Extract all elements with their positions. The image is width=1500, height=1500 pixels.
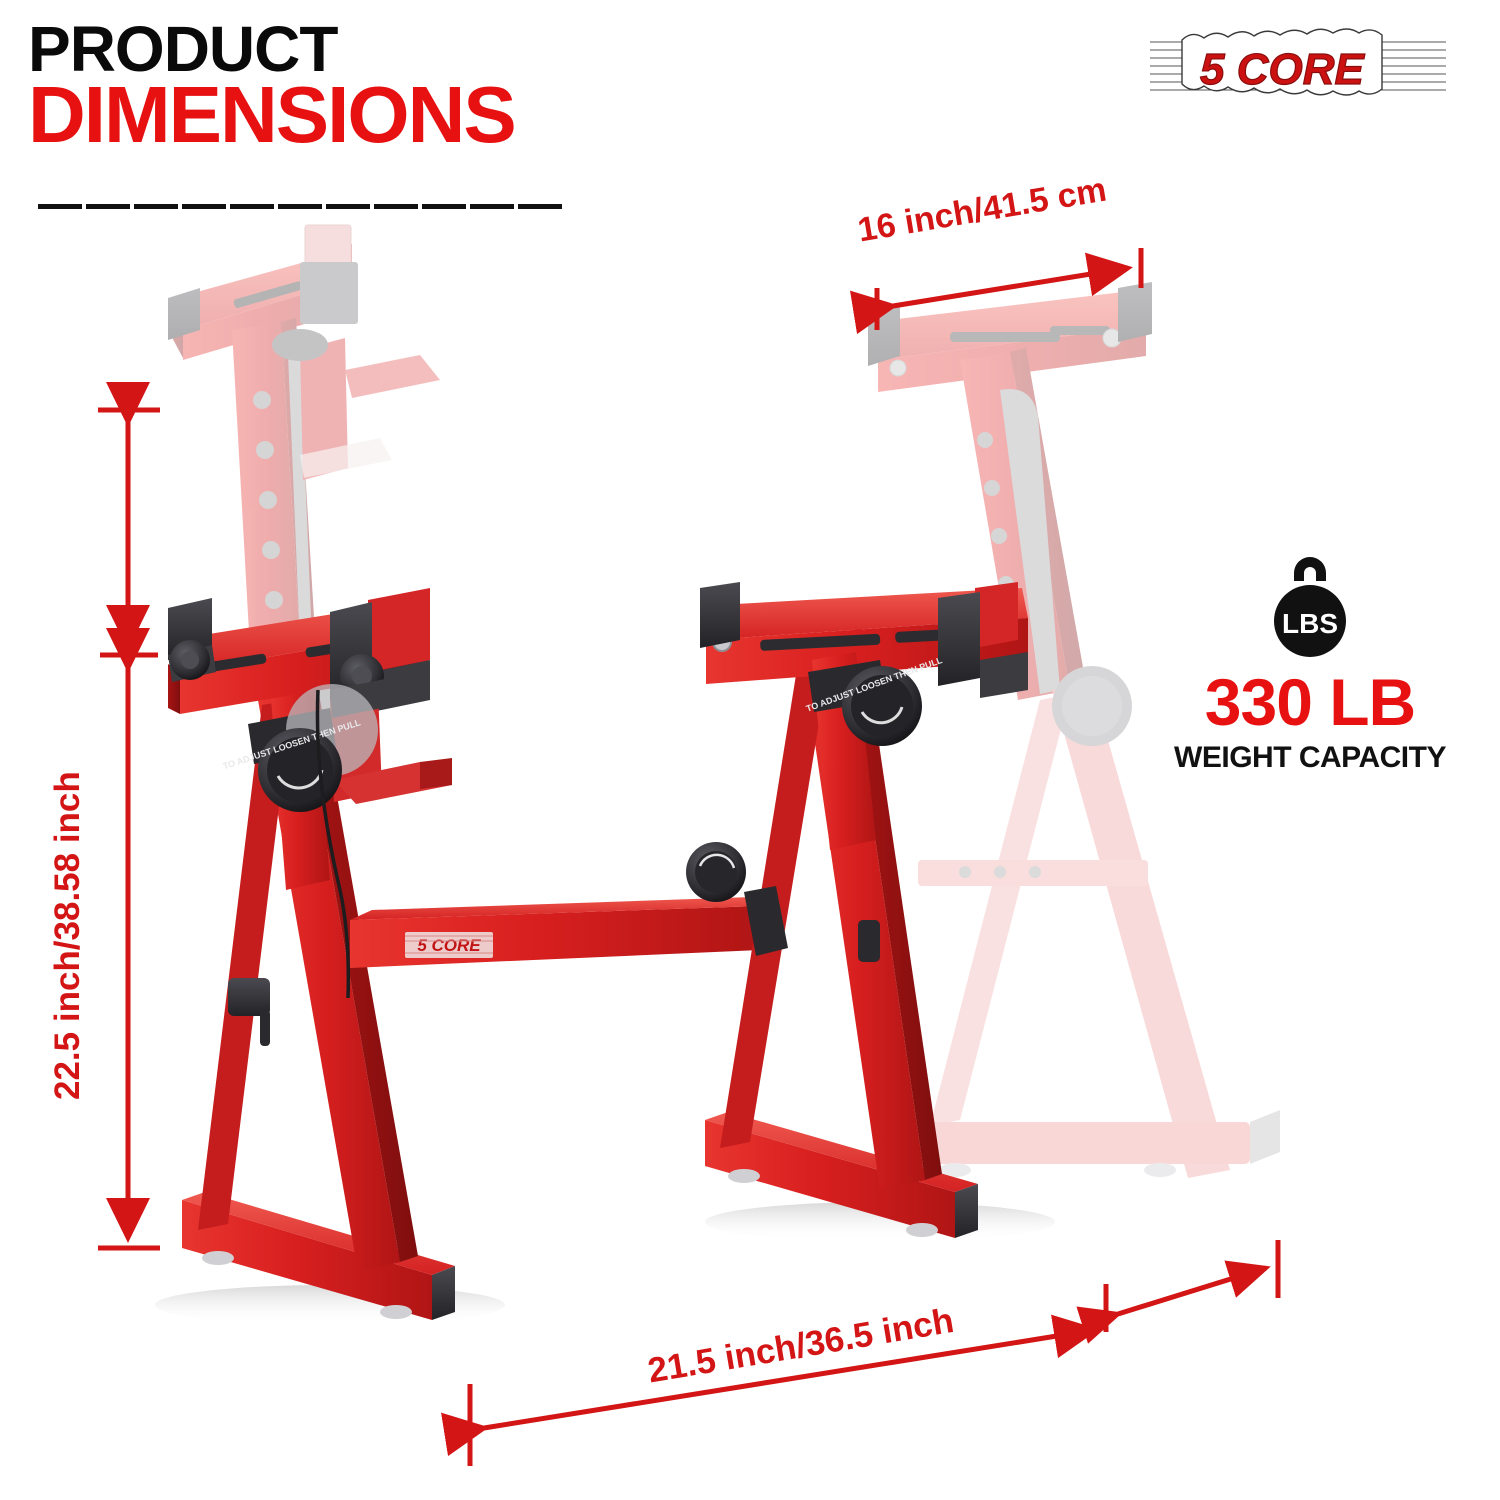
weight-icon-label: LBS xyxy=(1282,608,1338,639)
infographic-canvas: PRODUCT DIMENSIONS 5 CORE xyxy=(0,0,1500,1500)
weight-capacity-value: 330 LB xyxy=(1155,669,1465,735)
stand-left: TO ADJUST LOOSEN THEN PULL 5 CORE xyxy=(155,588,782,1325)
pin-right xyxy=(858,920,880,962)
weight-icon: LBS xyxy=(1262,555,1358,661)
endcap-black-right xyxy=(700,582,740,648)
weight-capacity-caption: WEIGHT CAPACITY xyxy=(1155,741,1465,775)
arm-knob-left-outer xyxy=(170,640,210,680)
ghost-stand-left xyxy=(168,225,440,650)
dimension-label-height: 22.5 inch/38.58 inch xyxy=(48,771,88,1100)
ghost-adjust-knob xyxy=(1052,666,1132,746)
crossbar-knob xyxy=(686,842,746,902)
weight-capacity-block: LBS 330 LB WEIGHT CAPACITY xyxy=(1155,555,1465,775)
endcap-red-left xyxy=(368,588,430,672)
crossbar-logo-text: 5 CORE xyxy=(417,936,481,955)
